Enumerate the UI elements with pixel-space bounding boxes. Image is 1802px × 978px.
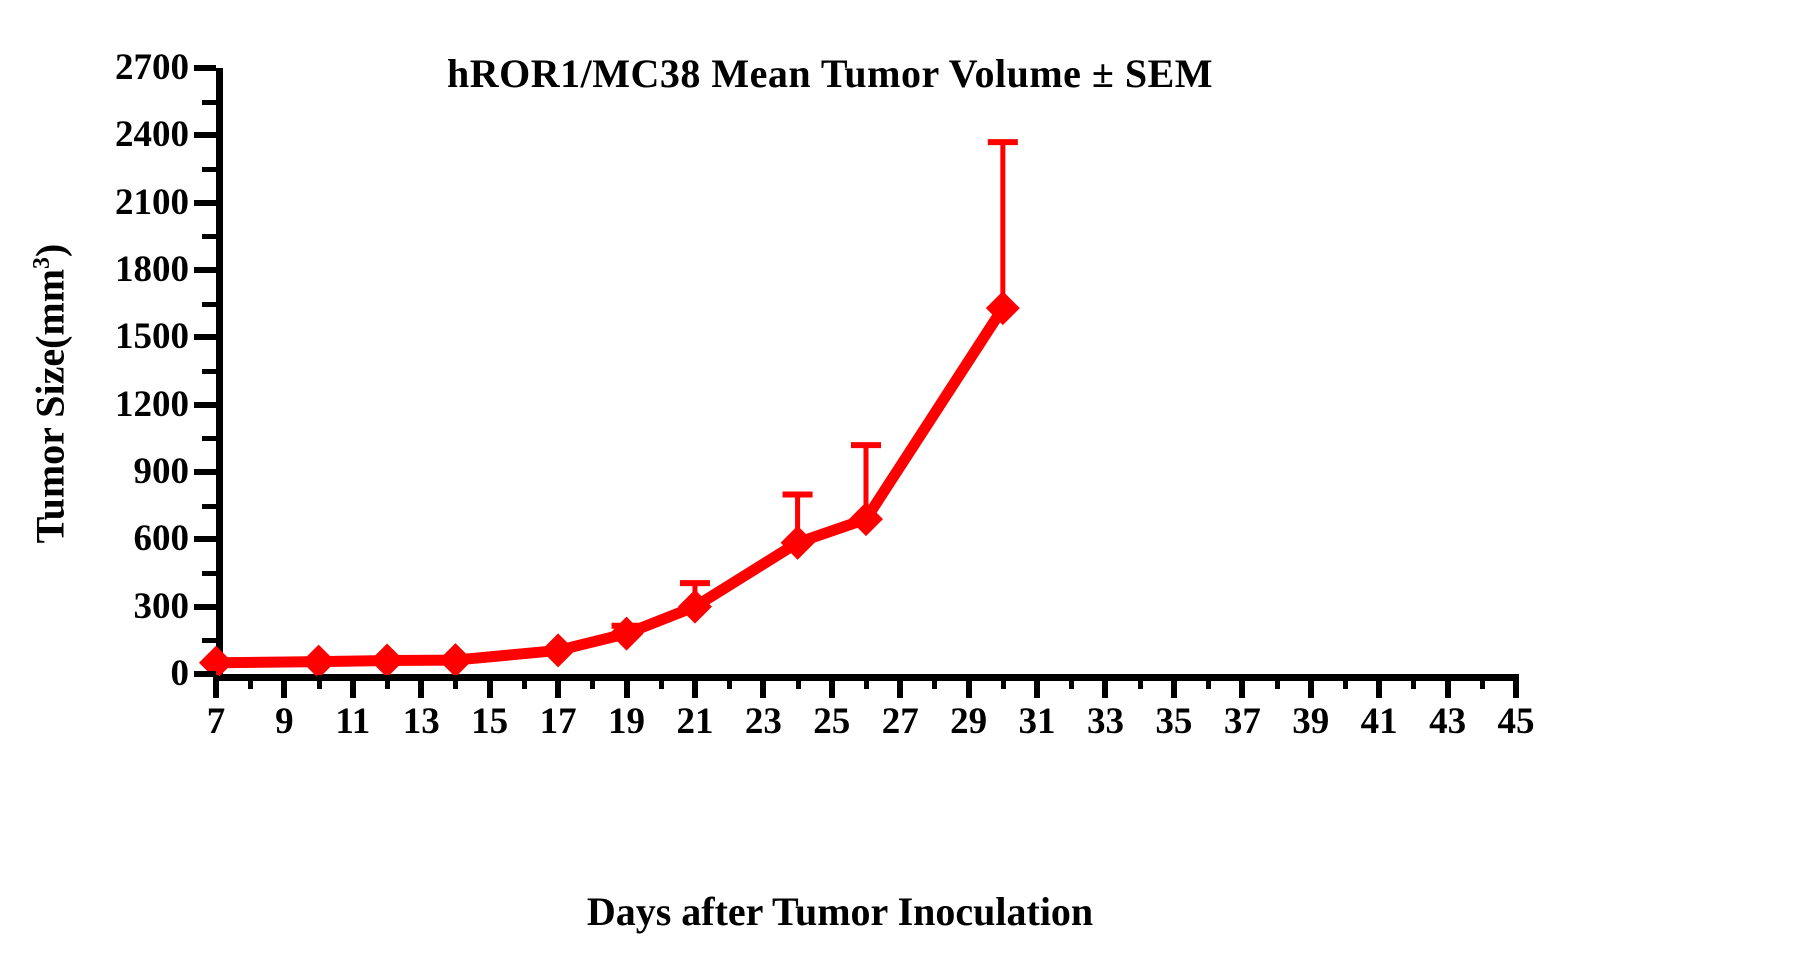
y-tick-major bbox=[194, 536, 216, 542]
x-tick-minor bbox=[453, 675, 458, 689]
x-tick-major bbox=[1513, 675, 1519, 698]
x-tick-label: 15 bbox=[455, 703, 525, 740]
x-tick-major bbox=[213, 675, 219, 698]
x-tick-minor bbox=[385, 675, 390, 689]
y-tick-minor bbox=[202, 369, 216, 374]
x-tick-minor bbox=[317, 675, 322, 689]
data-point-marker bbox=[370, 644, 404, 678]
x-tick-label: 21 bbox=[660, 703, 730, 740]
data-point-marker bbox=[610, 617, 644, 651]
x-tick-label: 11 bbox=[318, 703, 388, 740]
y-tick-minor bbox=[202, 167, 216, 172]
data-series-layer bbox=[216, 68, 1516, 688]
y-tick-major bbox=[194, 267, 216, 273]
x-tick-minor bbox=[1069, 675, 1074, 689]
x-tick-major bbox=[760, 675, 766, 698]
x-tick-minor bbox=[590, 675, 595, 689]
x-tick-label: 23 bbox=[728, 703, 798, 740]
x-tick-label: 43 bbox=[1413, 703, 1483, 740]
x-tick-minor bbox=[248, 675, 253, 689]
y-tick-major bbox=[194, 65, 216, 71]
x-tick-minor bbox=[1001, 675, 1006, 689]
x-tick-minor bbox=[864, 675, 869, 689]
x-axis-title: Days after Tumor Inoculation bbox=[180, 888, 1500, 935]
x-tick-label: 39 bbox=[1276, 703, 1346, 740]
data-point-marker bbox=[541, 633, 575, 667]
x-tick-minor bbox=[1480, 675, 1485, 689]
y-tick-major bbox=[194, 402, 216, 408]
x-tick-major bbox=[897, 675, 903, 698]
x-tick-major bbox=[1308, 675, 1314, 698]
x-tick-major bbox=[624, 675, 630, 698]
x-tick-minor bbox=[796, 675, 801, 689]
x-tick-label: 45 bbox=[1481, 703, 1551, 740]
x-tick-minor bbox=[1138, 675, 1143, 689]
error-bar bbox=[988, 142, 1018, 308]
y-tick-major bbox=[194, 469, 216, 475]
x-tick-label: 7 bbox=[181, 703, 251, 740]
y-tick-minor bbox=[202, 571, 216, 576]
x-tick-major bbox=[1376, 675, 1382, 698]
x-tick-major bbox=[692, 675, 698, 698]
plot-area bbox=[216, 68, 1516, 678]
x-tick-minor bbox=[1343, 675, 1348, 689]
x-tick-minor bbox=[522, 675, 527, 689]
x-tick-major bbox=[1034, 675, 1040, 698]
x-tick-label: 17 bbox=[523, 703, 593, 740]
x-tick-minor bbox=[1275, 675, 1280, 689]
x-tick-label: 33 bbox=[1070, 703, 1140, 740]
y-tick-minor bbox=[202, 638, 216, 643]
x-tick-minor bbox=[932, 675, 937, 689]
x-tick-label: 29 bbox=[934, 703, 1004, 740]
x-tick-minor bbox=[659, 675, 664, 689]
y-tick-major bbox=[194, 604, 216, 610]
x-tick-minor bbox=[727, 675, 732, 689]
x-tick-label: 13 bbox=[386, 703, 456, 740]
x-tick-minor bbox=[1206, 675, 1211, 689]
x-tick-major bbox=[555, 675, 561, 698]
chart-container: hROR1/MC38 Mean Tumor Volume ± SEM Tumor… bbox=[0, 0, 1802, 978]
x-tick-major bbox=[1445, 675, 1451, 698]
x-tick-major bbox=[281, 675, 287, 698]
y-tick-minor bbox=[202, 504, 216, 509]
x-tick-major bbox=[418, 675, 424, 698]
y-tick-major bbox=[194, 200, 216, 206]
x-tick-major bbox=[1102, 675, 1108, 698]
x-tick-major bbox=[1171, 675, 1177, 698]
x-tick-major bbox=[1239, 675, 1245, 698]
data-point-marker bbox=[302, 645, 336, 679]
x-tick-label: 27 bbox=[865, 703, 935, 740]
series-line bbox=[216, 308, 1003, 663]
x-tick-major bbox=[829, 675, 835, 698]
y-tick-minor bbox=[202, 100, 216, 105]
x-tick-major bbox=[350, 675, 356, 698]
x-tick-major bbox=[966, 675, 972, 698]
x-tick-label: 37 bbox=[1207, 703, 1277, 740]
x-tick-label: 19 bbox=[592, 703, 662, 740]
y-tick-major bbox=[194, 334, 216, 340]
y-tick-major bbox=[194, 132, 216, 138]
data-point-marker bbox=[438, 643, 472, 677]
x-tick-label: 9 bbox=[249, 703, 319, 740]
x-tick-label: 35 bbox=[1139, 703, 1209, 740]
x-tick-minor bbox=[1411, 675, 1416, 689]
x-tick-major bbox=[487, 675, 493, 698]
y-tick-minor bbox=[202, 436, 216, 441]
x-tick-label: 41 bbox=[1344, 703, 1414, 740]
x-tick-label: 25 bbox=[797, 703, 867, 740]
x-tick-label: 31 bbox=[1002, 703, 1072, 740]
y-tick-minor bbox=[202, 302, 216, 307]
y-tick-minor bbox=[202, 234, 216, 239]
